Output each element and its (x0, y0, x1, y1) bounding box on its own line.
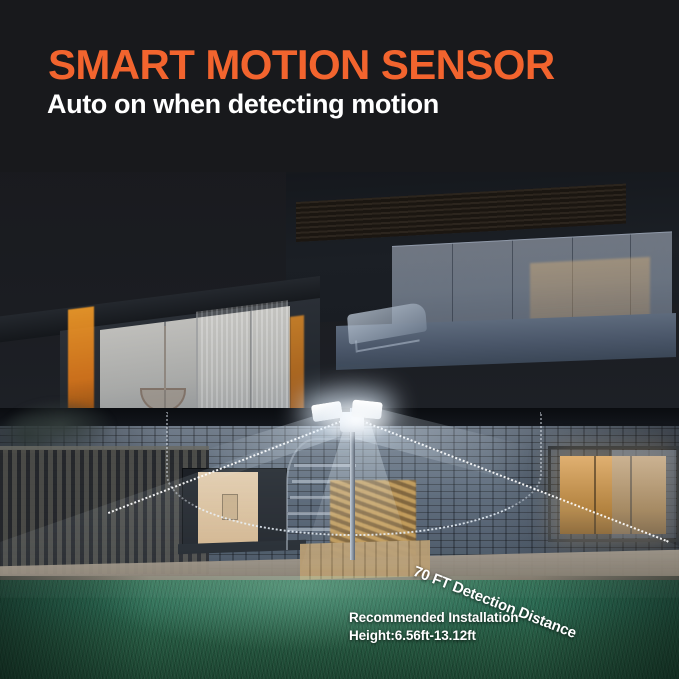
label-install-line1: Recommended Installation (349, 609, 518, 627)
led-glow (300, 388, 412, 452)
night-house-photo: 70 FT Detection Distance Recommended Ins… (0, 150, 679, 679)
label-install-line2: Height:6.56ft-13.12ft (349, 627, 518, 645)
page-title: SMART MOTION SENSOR (48, 44, 555, 86)
page-subtitle: Auto on when detecting motion (47, 88, 439, 120)
banner-header: SMART MOTION SENSOR Auto on when detecti… (0, 0, 679, 172)
label-recommended-installation: Recommended Installation Height:6.56ft-1… (349, 609, 518, 645)
product-feature-banner: 70 FT Detection Distance Recommended Ins… (0, 0, 679, 679)
